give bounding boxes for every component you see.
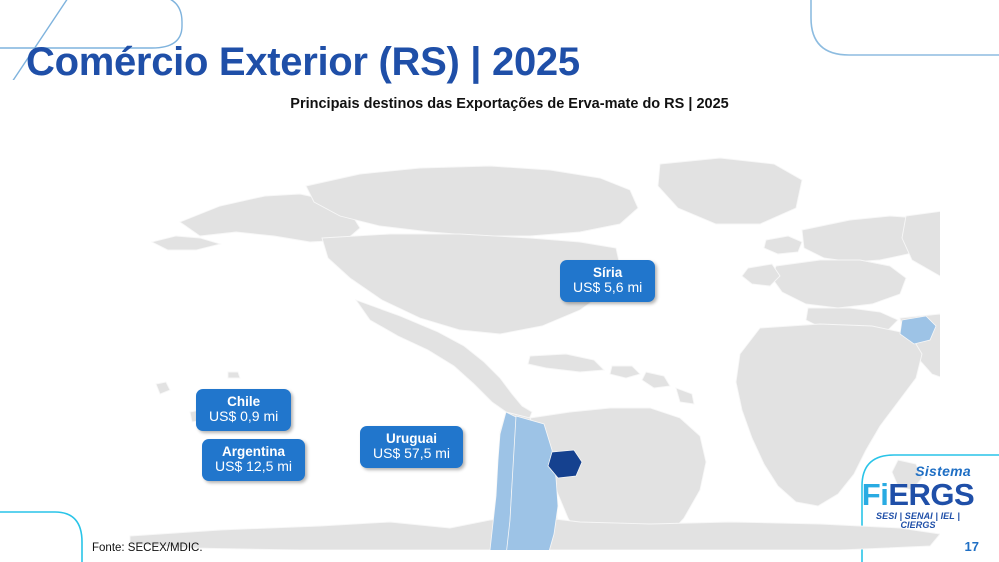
source-note: Fonte: SECEX/MDIC.: [92, 542, 203, 554]
callout-country-value: US$ 5,6 mi: [573, 280, 642, 296]
world-map-svg: [60, 150, 940, 550]
map-callout-uruguai[interactable]: Uruguai US$ 57,5 mi: [360, 426, 463, 468]
callout-country-value: US$ 0,9 mi: [209, 409, 278, 425]
logo-sistema-text: Sistema: [859, 464, 977, 478]
map-callout-argentina[interactable]: Argentina US$ 12,5 mi: [202, 439, 305, 481]
logo-brand-ergs: ERGS: [888, 477, 974, 512]
callout-country-value: US$ 57,5 mi: [373, 446, 450, 462]
world-map: [60, 150, 940, 550]
slide-canvas: Comércio Exterior (RS) | 2025 Principais…: [0, 0, 999, 562]
fiergs-logo: Sistema FiERGS SESI | SENAI | IEL | CIER…: [859, 464, 977, 530]
map-callout-siria[interactable]: Síria US$ 5,6 mi: [560, 260, 655, 302]
page-title: Comércio Exterior (RS) | 2025: [26, 40, 580, 85]
logo-brand-fi: Fi: [862, 477, 889, 512]
callout-country-name: Argentina: [215, 444, 292, 459]
map-callout-chile[interactable]: Chile US$ 0,9 mi: [196, 389, 291, 431]
callout-country-name: Chile: [209, 394, 278, 409]
page-number: 17: [965, 539, 979, 554]
decorative-curve-top-right: [769, 0, 999, 75]
callout-country-name: Síria: [573, 265, 642, 280]
callout-country-name: Uruguai: [373, 431, 450, 446]
callout-country-value: US$ 12,5 mi: [215, 459, 292, 475]
logo-units-text: SESI | SENAI | IEL | CIERGS: [859, 512, 977, 530]
logo-brand-text: FiERGS: [859, 479, 977, 510]
page-subtitle: Principais destinos das Exportações de E…: [0, 96, 999, 112]
